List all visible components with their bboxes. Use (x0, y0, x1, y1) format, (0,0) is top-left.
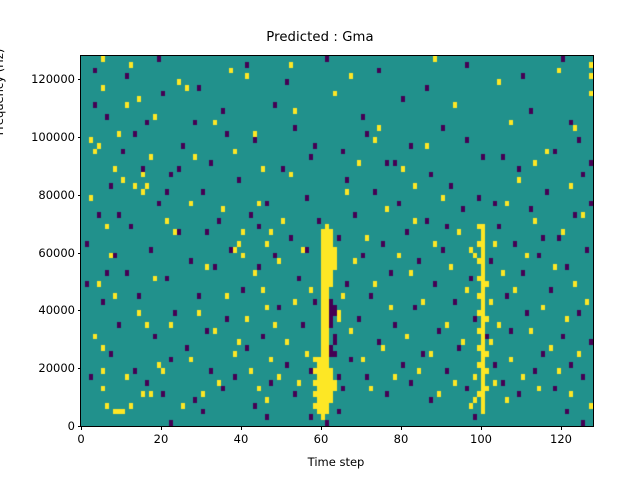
x-tick-mark (481, 426, 482, 430)
heatmap-axes: 020000400006000080000100000120000 020406… (80, 55, 594, 427)
y-tick-label: 0 (68, 419, 75, 433)
y-tick-mark (78, 368, 82, 369)
x-tick-mark (81, 426, 82, 430)
chart-title: Predicted : Gma (0, 30, 640, 45)
y-tick-mark (78, 253, 82, 254)
x-tick-mark (321, 426, 322, 430)
y-tick-label: 40000 (38, 303, 75, 317)
x-tick-mark (561, 426, 562, 430)
y-tick-label: 20000 (38, 361, 75, 375)
x-tick-label: 0 (77, 432, 84, 446)
x-axis-label: Time step (80, 455, 592, 469)
x-tick-label: 20 (154, 432, 169, 446)
y-tick-label: 120000 (31, 72, 75, 86)
spectrogram-canvas (81, 56, 593, 426)
x-tick-label: 80 (394, 432, 409, 446)
x-tick-mark (161, 426, 162, 430)
y-axis-label: Frequency (Hz) (0, 12, 6, 172)
y-tick-label: 100000 (31, 130, 75, 144)
y-tick-label: 80000 (38, 188, 75, 202)
x-tick-label: 40 (234, 432, 249, 446)
x-tick-label: 60 (314, 432, 329, 446)
y-tick-mark (78, 137, 82, 138)
x-tick-mark (241, 426, 242, 430)
y-tick-mark (78, 79, 82, 80)
y-tick-mark (78, 310, 82, 311)
x-tick-label: 100 (470, 432, 492, 446)
x-tick-label: 120 (550, 432, 572, 446)
y-tick-mark (78, 195, 82, 196)
matplotlib-figure: Predicted : Gma 020000400006000080000100… (0, 0, 640, 480)
x-tick-mark (401, 426, 402, 430)
y-tick-label: 60000 (38, 246, 75, 260)
